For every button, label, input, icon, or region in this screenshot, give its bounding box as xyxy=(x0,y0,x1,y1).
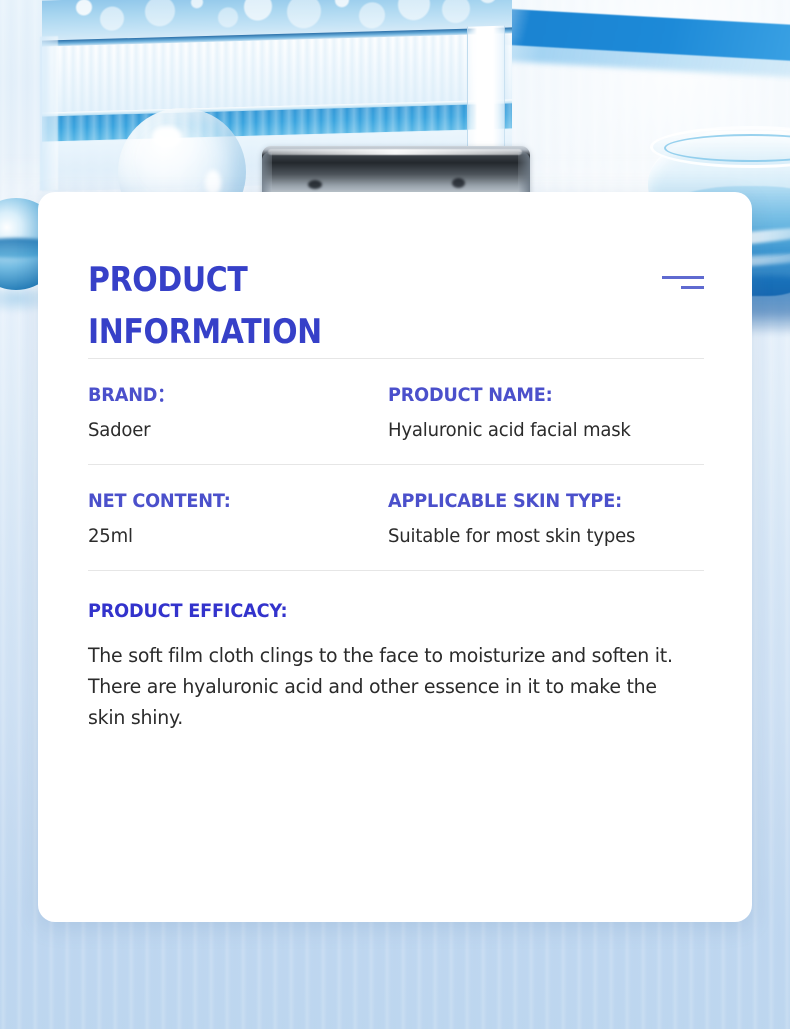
metallic-product-detail-right xyxy=(452,178,465,188)
card-header: PRODUCT INFORMATION xyxy=(88,254,704,358)
info-row-content-skin: NET CONTENT: 25ml APPLICABLE SKIN TYPE: … xyxy=(88,465,704,570)
decoration-rule-short xyxy=(681,286,704,289)
field-brand-label: BRAND： xyxy=(88,383,367,407)
product-information-page: PRODUCT INFORMATION BRAND： Sadoer PRODUC… xyxy=(0,0,790,1029)
field-product-name-value: Hyaluronic acid facial mask xyxy=(388,418,688,442)
field-applicable-skin-type-label: APPLICABLE SKIN TYPE: xyxy=(388,489,682,513)
product-information-card: PRODUCT INFORMATION BRAND： Sadoer PRODUC… xyxy=(38,192,752,922)
field-product-efficacy: PRODUCT EFFICACY: The soft film cloth cl… xyxy=(88,571,704,733)
field-product-efficacy-value: The soft film cloth clings to the face t… xyxy=(88,640,689,733)
glass-block-left-edge xyxy=(40,36,58,191)
field-product-name-label: PRODUCT NAME: xyxy=(388,383,682,407)
field-applicable-skin-type: APPLICABLE SKIN TYPE: Suitable for most … xyxy=(388,489,704,548)
field-brand: BRAND： Sadoer xyxy=(88,383,388,442)
metallic-product-detail-left xyxy=(308,180,322,189)
field-net-content-label: NET CONTENT: xyxy=(88,489,367,513)
metallic-product-top-highlight xyxy=(268,149,522,155)
glass-sphere-highlight xyxy=(152,126,182,148)
field-net-content-value: 25ml xyxy=(88,524,373,548)
page-title: PRODUCT INFORMATION xyxy=(88,254,322,358)
info-row-brand-product: BRAND： Sadoer PRODUCT NAME: Hyaluronic a… xyxy=(88,359,704,464)
field-brand-value: Sadoer xyxy=(88,418,373,442)
field-net-content: NET CONTENT: 25ml xyxy=(88,489,388,548)
decoration-rule-long xyxy=(662,276,704,279)
field-product-name: PRODUCT NAME: Hyaluronic acid facial mas… xyxy=(388,383,704,442)
field-product-efficacy-label: PRODUCT EFFICACY: xyxy=(88,599,661,623)
card-content: PRODUCT INFORMATION BRAND： Sadoer PRODUC… xyxy=(88,254,704,733)
field-applicable-skin-type-value: Suitable for most skin types xyxy=(388,524,688,548)
double-rule-decoration-icon xyxy=(662,276,704,289)
